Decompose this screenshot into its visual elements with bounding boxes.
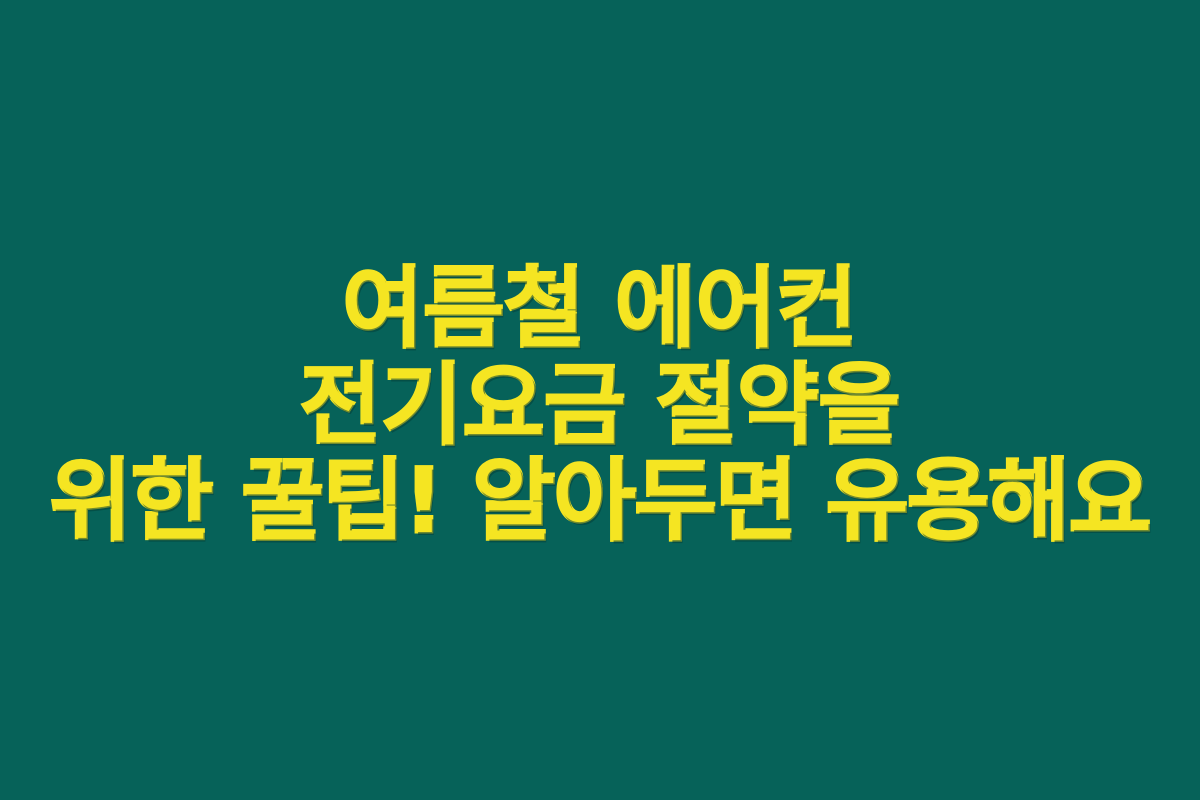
poster-canvas: 여름철 에어컨 전기요금 절약을 위한 꿀팁! 알아두면 유용해요: [0, 0, 1200, 800]
headline-line-3: 위한 꿀팁! 알아두면 유용해요: [0, 454, 1200, 552]
headline-line-1: 여름철 에어컨: [0, 261, 1200, 357]
headline-line-2: 전기요금 절약을: [0, 357, 1200, 454]
headline-block: 여름철 에어컨 전기요금 절약을 위한 꿀팁! 알아두면 유용해요: [0, 261, 1200, 552]
